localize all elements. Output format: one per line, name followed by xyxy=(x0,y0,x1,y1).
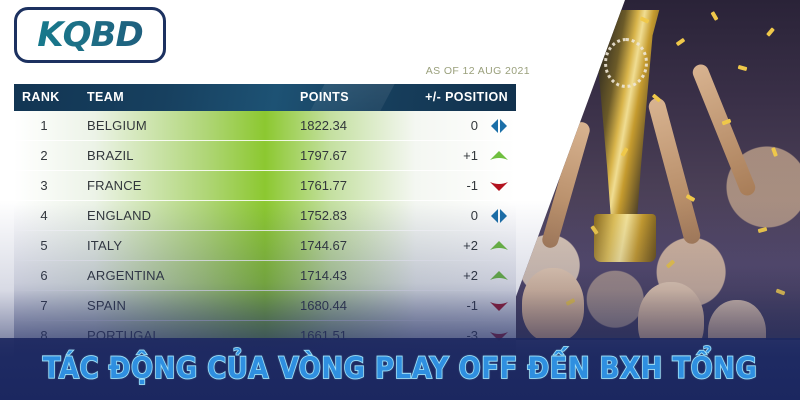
up-triangle-icon xyxy=(488,269,510,283)
kqbd-logo[interactable]: KQBD xyxy=(14,7,166,63)
table-header-row: RANK TEAM POINTS +/- POSITION xyxy=(14,84,516,111)
steady-double-arrow-icon xyxy=(488,119,510,133)
cell-team: BRAZIL xyxy=(87,148,134,163)
cell-position-delta: 0 xyxy=(471,208,478,223)
poster-canvas: KQBD AS OF 12 AUG 2021 RANK TEAM POINTS … xyxy=(0,0,800,400)
cell-position-delta: 0 xyxy=(471,118,478,133)
table-row[interactable]: 6ARGENTINA1714.43+2 xyxy=(14,261,516,291)
player-face xyxy=(708,300,766,340)
trophy-celebration-photo xyxy=(470,0,800,340)
player-arm xyxy=(540,120,591,249)
cell-team: ITALY xyxy=(87,238,122,253)
trophy-ring-detail xyxy=(604,38,648,88)
cell-rank: 2 xyxy=(24,148,64,163)
cell-points: 1761.77 xyxy=(300,178,347,193)
as-of-date-label: AS OF 12 AUG 2021 xyxy=(405,65,530,77)
table-row[interactable]: 4ENGLAND1752.830 xyxy=(14,201,516,231)
column-header-team: TEAM xyxy=(87,90,124,104)
cell-points: 1797.67 xyxy=(300,148,347,163)
table-row[interactable]: 2BRAZIL1797.67+1 xyxy=(14,141,516,171)
cell-team: ARGENTINA xyxy=(87,268,165,283)
up-triangle-icon xyxy=(488,149,510,163)
down-triangle-icon xyxy=(488,299,510,313)
column-header-position: +/- POSITION xyxy=(425,90,508,104)
cell-points: 1680.44 xyxy=(300,298,347,313)
table-row[interactable]: 3FRANCE1761.77-1 xyxy=(14,171,516,201)
cell-position-delta: -1 xyxy=(466,178,478,193)
up-triangle-icon xyxy=(488,239,510,253)
cell-points: 1752.83 xyxy=(300,208,347,223)
player-face xyxy=(638,282,704,340)
cell-rank: 1 xyxy=(24,118,64,133)
cell-position-delta: +2 xyxy=(463,268,478,283)
player-face xyxy=(522,268,584,340)
cell-rank: 5 xyxy=(24,238,64,253)
table-row[interactable]: 5ITALY1744.67+2 xyxy=(14,231,516,261)
down-triangle-icon xyxy=(488,179,510,193)
confetti-piece xyxy=(666,260,675,269)
cell-points: 1714.43 xyxy=(300,268,347,283)
cell-team: ENGLAND xyxy=(87,208,151,223)
cell-points: 1822.34 xyxy=(300,118,347,133)
confetti-piece xyxy=(711,11,719,21)
cell-team: FRANCE xyxy=(87,178,142,193)
confetti-piece xyxy=(758,227,768,233)
title-banner: TÁC ĐỘNG CỦA VÒNG PLAY OFF ĐẾN BXH TỔNG xyxy=(0,338,800,400)
player-arm xyxy=(690,62,757,198)
banner-title: TÁC ĐỘNG CỦA VÒNG PLAY OFF ĐẾN BXH TỔNG xyxy=(43,352,758,386)
cell-rank: 7 xyxy=(24,298,64,313)
cell-position-delta: +1 xyxy=(463,148,478,163)
confetti-piece xyxy=(776,289,786,296)
cell-team: BELGIUM xyxy=(87,118,147,133)
cell-position-delta: -1 xyxy=(466,298,478,313)
cell-team: SPAIN xyxy=(87,298,126,313)
confetti-piece xyxy=(766,27,775,36)
cell-rank: 4 xyxy=(24,208,64,223)
confetti-piece xyxy=(771,147,778,157)
cell-position-delta: +2 xyxy=(463,238,478,253)
table-row[interactable]: 1BELGIUM1822.340 xyxy=(14,111,516,141)
cell-rank: 3 xyxy=(24,178,64,193)
column-header-points: POINTS xyxy=(300,90,349,104)
cell-rank: 6 xyxy=(24,268,64,283)
steady-double-arrow-icon xyxy=(488,209,510,223)
trophy-base xyxy=(594,214,656,262)
confetti-piece xyxy=(676,38,686,46)
confetti-piece xyxy=(738,65,748,71)
table-row[interactable]: 7SPAIN1680.44-1 xyxy=(14,291,516,321)
cell-points: 1744.67 xyxy=(300,238,347,253)
kqbd-logo-text: KQBD xyxy=(37,18,142,52)
photo-background xyxy=(470,0,800,340)
column-header-rank: RANK xyxy=(22,90,60,104)
